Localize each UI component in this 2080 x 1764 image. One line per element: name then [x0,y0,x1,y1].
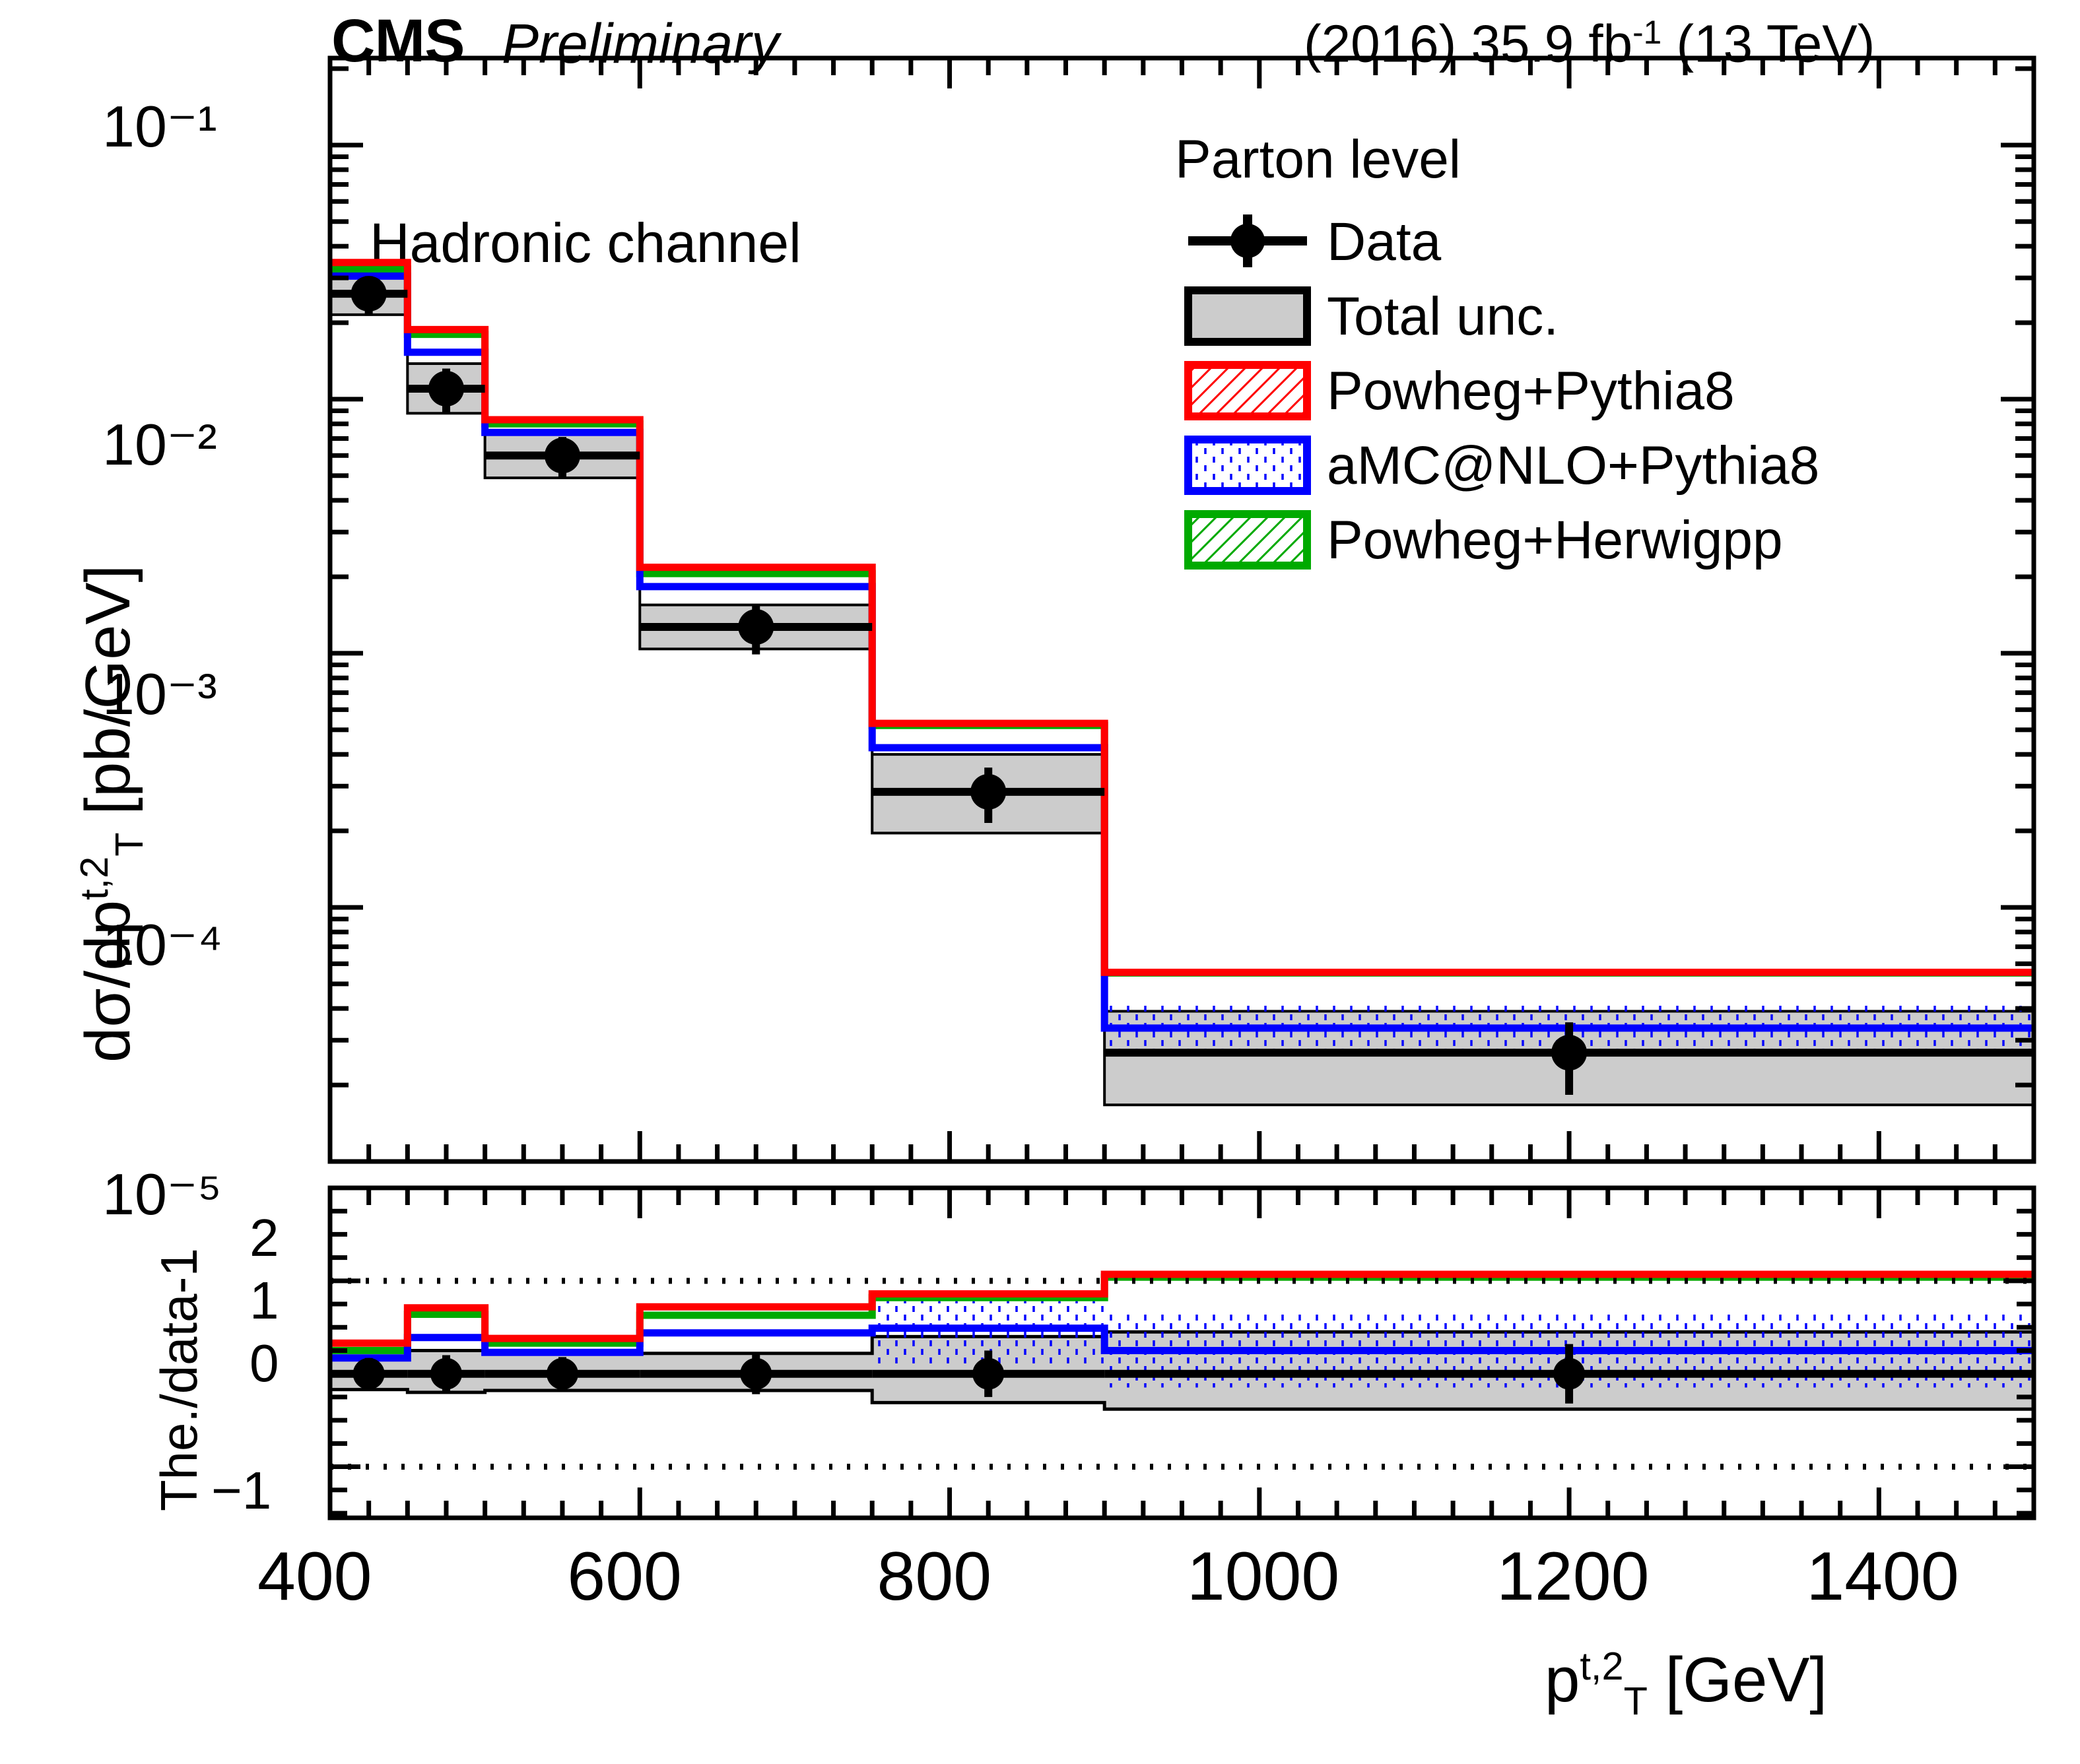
data-marker-main[interactable] [545,438,580,473]
main-panel-frame [330,58,2034,1161]
data-marker-main[interactable] [970,774,1006,810]
data-marker-main[interactable] [351,276,387,311]
amcatnlo-pythia8-curve-main [330,276,2034,1028]
data-marker-ratio[interactable] [740,1358,772,1390]
data-marker-main[interactable] [738,609,774,645]
total-unc-band-outline-main [330,275,2034,1105]
legend-swatch-amcatnlo-pythia8[interactable] [1188,440,1307,491]
legend-swatch-powheg-herwigpp[interactable] [1188,514,1307,566]
legend-swatch-powheg-pythia8[interactable] [1188,365,1307,416]
powheg-pythia8-curve-main [330,263,2034,973]
figure-root: CMS Preliminary (2016) 35.9 fb-1 (13 TeV… [0,0,2080,1764]
legend-swatch-total-unc[interactable] [1188,290,1307,342]
data-marker-ratio[interactable] [972,1358,1004,1390]
plot-canvas [0,0,2080,1764]
data-marker-main[interactable] [428,371,464,407]
data-marker-ratio[interactable] [430,1358,462,1390]
data-marker-ratio[interactable] [1553,1358,1585,1390]
data-marker-ratio[interactable] [547,1358,578,1390]
legend-marker-data-point [1230,224,1265,258]
data-marker-main[interactable] [1551,1035,1587,1070]
total-unc-band-main [330,275,2034,1105]
powheg-herwigpp-curve-main [330,269,2034,973]
